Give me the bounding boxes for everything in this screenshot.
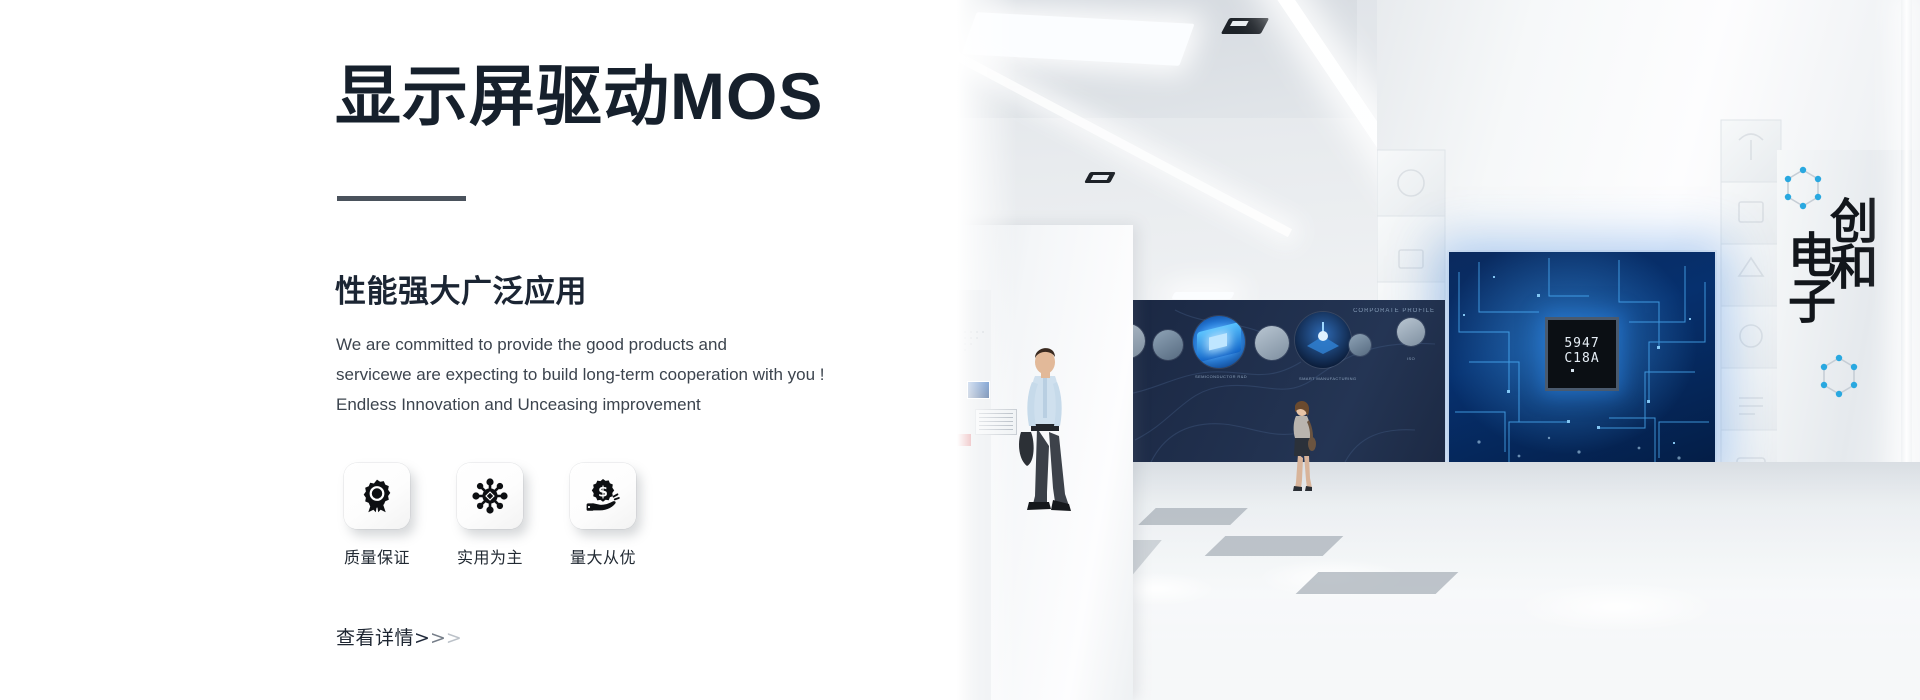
exhibit-circle-chip [1193, 316, 1245, 368]
hand-holding-coin-icon: $ [584, 477, 622, 515]
molecule-hexagon-icon [1781, 164, 1825, 220]
feature-icon-tile [344, 463, 410, 529]
ceiling-spotlight [1084, 172, 1116, 183]
network-hub-icon [471, 477, 509, 515]
showroom-photo: 5947 C18A 创和 电子 [957, 0, 1920, 700]
floor-reflection [1517, 582, 1717, 632]
hero-description: We are committed to provide the good pro… [336, 330, 876, 420]
cta-chevron-2: > [430, 627, 446, 649]
title-divider [337, 196, 466, 201]
feature-list: 质量保证 [335, 463, 645, 568]
molecule-hexagon-icon [1817, 352, 1861, 408]
exhibition-wall: CORPORATE PROFILE SEMICONDUCTOR R&D SMAR… [1115, 300, 1445, 462]
ceiling-spotlight [1221, 18, 1270, 34]
person-standing-man [1013, 336, 1087, 516]
floor-inlay [1205, 536, 1344, 556]
award-ribbon-icon [359, 478, 395, 514]
cta-chevron-1: > [414, 627, 430, 649]
feature-item-practical[interactable]: 实用为主 [448, 463, 532, 568]
exhibit-circle [1397, 318, 1425, 346]
feature-icon-tile [457, 463, 523, 529]
exhibit-circle-dark [1295, 312, 1351, 368]
cta-label: 查看详情 [336, 623, 414, 650]
feature-icon-tile: $ [570, 463, 636, 529]
hero-subtitle: 性能强大广泛应用 [335, 266, 587, 311]
feature-label: 量大从优 [570, 544, 636, 568]
floor-inlay [1138, 508, 1248, 525]
page-title: 显示屏驱动MOS [335, 62, 823, 131]
feature-item-quality[interactable]: 质量保证 [335, 463, 419, 568]
floor-inlay [1296, 572, 1459, 594]
description-line-2: servicewe are expecting to build long-te… [336, 360, 876, 390]
chip-hologram [1197, 322, 1241, 363]
exhibit-circle [1153, 330, 1183, 360]
view-details-link[interactable]: 查看详情 > > > [336, 623, 462, 650]
wall-map-graphic [1115, 300, 1445, 462]
exhibition-wall-heading: CORPORATE PROFILE [1353, 308, 1435, 314]
cta-chevron-3: > [446, 627, 462, 649]
chip-graphic: 5947 C18A [1545, 317, 1619, 391]
hero-banner: 5947 C18A 创和 电子 [0, 0, 1920, 700]
hero-copy-panel: 显示屏驱动MOS 性能强大广泛应用 We are committed to pr… [335, 0, 895, 700]
chip-orientation-dot [1571, 369, 1574, 372]
led-display-screen: 5947 C18A [1449, 252, 1715, 470]
exhibit-circle [1255, 326, 1289, 360]
person-walking-woman [1285, 398, 1319, 494]
feature-label: 实用为主 [457, 544, 523, 568]
exhibit-circle [1349, 334, 1371, 356]
description-line-3: Endless Innovation and Unceasing improve… [336, 390, 876, 420]
photo-left-fade [957, 0, 1017, 700]
svg-text:$: $ [598, 484, 608, 500]
signage-text-left: 电子 [1783, 230, 1830, 322]
feature-item-volume-discount[interactable]: $ 量大从优 [561, 463, 645, 568]
description-line-1: We are committed to provide the good pro… [336, 330, 876, 360]
chip-code-line-1: 5947 [1564, 336, 1599, 351]
ceiling-panel-light [1171, 292, 1234, 299]
exhibit-graphic [1295, 312, 1351, 368]
chip-code-line-2: C18A [1564, 351, 1599, 366]
feature-label: 质量保证 [344, 544, 410, 568]
